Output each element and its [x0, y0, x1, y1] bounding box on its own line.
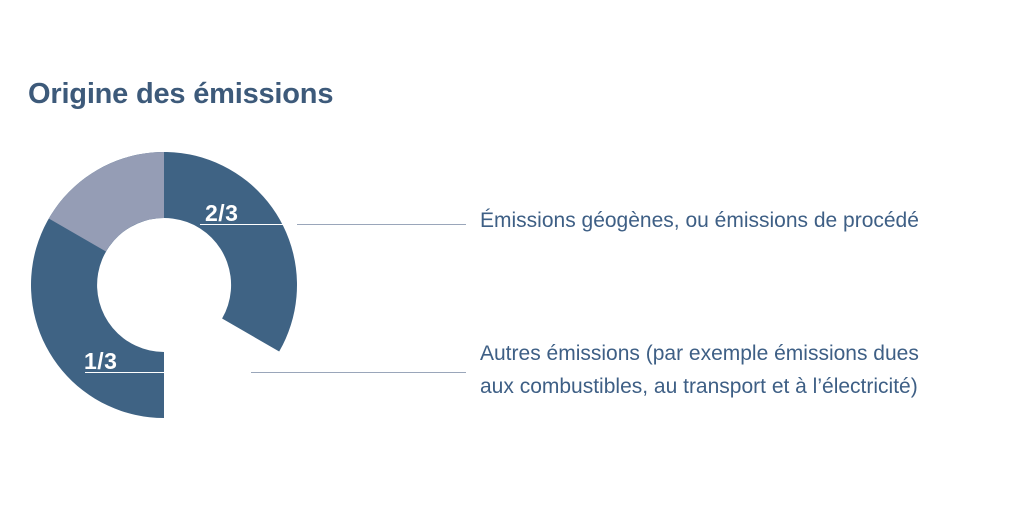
leader-line-minor: [251, 372, 466, 373]
callout-label-major: Émissions géogènes, ou émissions de proc…: [480, 204, 919, 237]
chart-figure: Origine des émissions 2/3 1/3 Émissions …: [0, 0, 1022, 520]
leader-line-minor-inner: [85, 372, 251, 373]
donut-chart: [31, 152, 297, 418]
slice-value-minor: 1/3: [84, 348, 117, 375]
slice-value-major: 2/3: [205, 200, 238, 227]
callout-label-minor: Autres émissions (par exemple émissions …: [480, 337, 919, 403]
donut-chart-svg: [31, 152, 297, 418]
page-title: Origine des émissions: [28, 78, 333, 111]
callout-major-line-1: Émissions géogènes, ou émissions de proc…: [480, 204, 919, 237]
callout-minor-line-2: aux combustibles, au transport et à l’él…: [480, 370, 919, 403]
leader-line-major: [297, 224, 466, 225]
leader-line-major-inner: [200, 224, 300, 225]
callout-minor-line-1: Autres émissions (par exemple émissions …: [480, 337, 919, 370]
